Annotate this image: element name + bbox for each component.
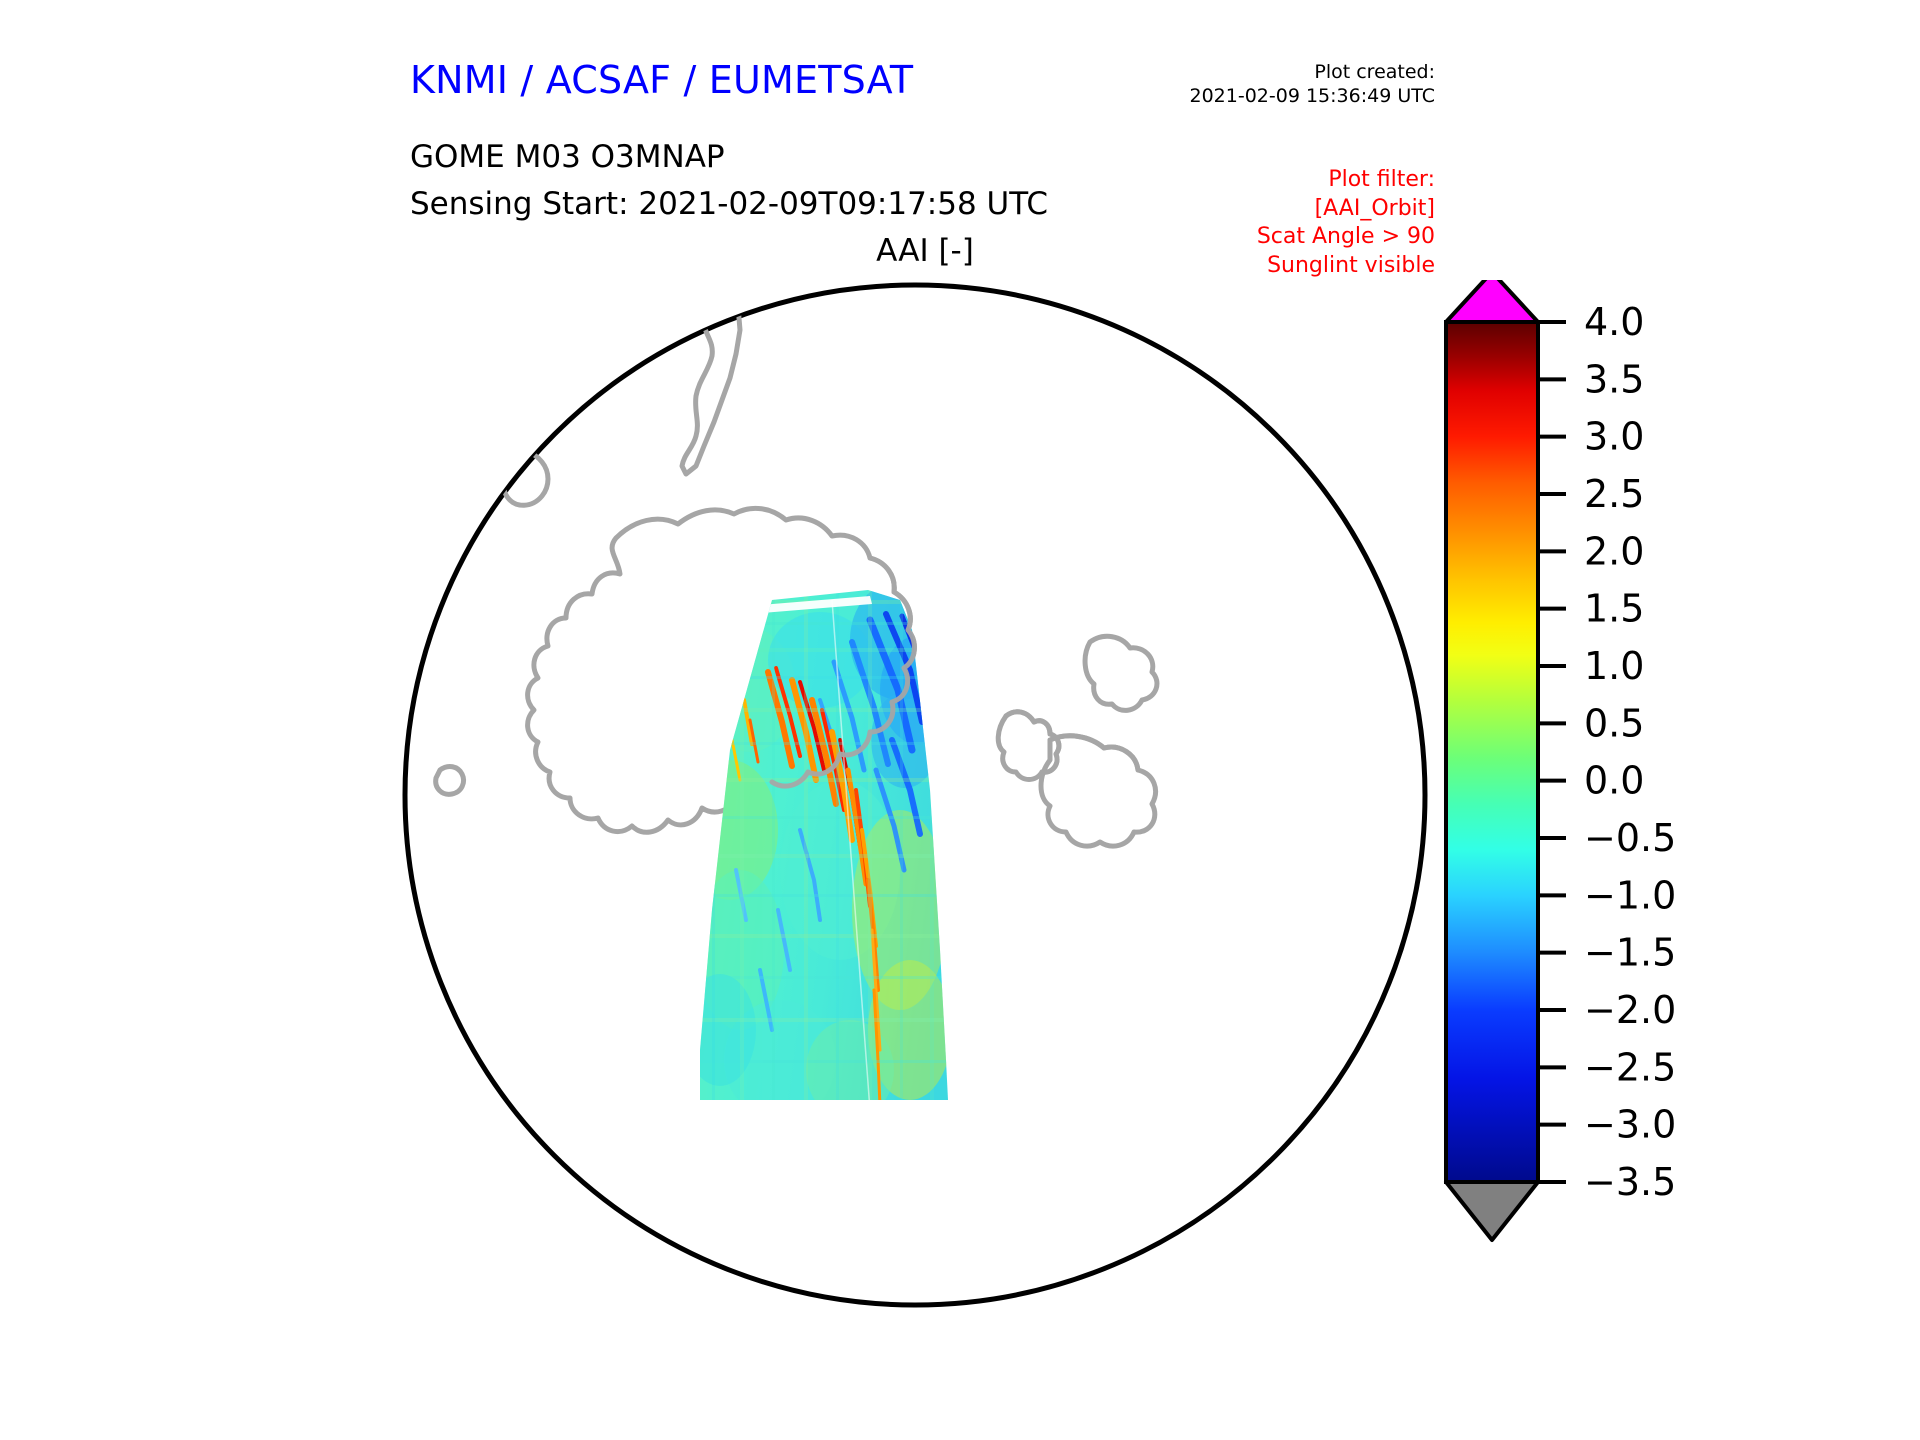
sensing-start-label: Sensing Start: 2021-02-09T09:17:58 UTC (410, 186, 1048, 222)
colorbar-tick-label: −1.0 (1584, 873, 1676, 917)
colorbar-tick-group: 4.03.53.02.52.01.51.00.50.0−0.5−1.0−1.5−… (1538, 300, 1676, 1204)
colorbar-tick-label: 0.0 (1584, 759, 1644, 803)
colorbar: 4.03.53.02.52.01.51.00.50.0−0.5−1.0−1.5−… (1434, 280, 1854, 1340)
plot-filter-label: Plot filter: (1257, 166, 1435, 195)
colorbar-tick-label: 1.5 (1584, 587, 1644, 631)
colorbar-over-range-arrow (1446, 280, 1538, 322)
colorbar-tick-label: 3.0 (1584, 415, 1644, 459)
colorbar-tick-label: 4.0 (1584, 300, 1644, 344)
plot-created-label: Plot created: (1190, 60, 1436, 84)
colorbar-tick-label: 1.0 (1584, 644, 1644, 688)
colorbar-tick-label: −0.5 (1584, 816, 1676, 860)
plot-created-block: Plot created: 2021-02-09 15:36:49 UTC (1190, 60, 1436, 109)
colorbar-gradient (1446, 322, 1538, 1182)
colorbar-tick-label: −2.0 (1584, 988, 1676, 1032)
colorbar-tick-label: 3.5 (1584, 357, 1644, 401)
plot-filter-block: Plot filter: [AAI_Orbit] Scat Angle > 90… (1257, 166, 1435, 280)
instrument-label: GOME M03 O3MNAP (410, 139, 725, 175)
colorbar-tick-label: 0.5 (1584, 701, 1644, 745)
plot-created-value: 2021-02-09 15:36:49 UTC (1190, 84, 1436, 108)
colorbar-tick-label: −2.5 (1584, 1045, 1676, 1089)
colorbar-tick-label: 2.0 (1584, 529, 1644, 573)
colorbar-tick-label: −3.0 (1584, 1103, 1676, 1147)
map-canvas (400, 270, 1430, 1320)
plot-filter-product: [AAI_Orbit] (1257, 195, 1435, 224)
page-title: AAI [-] (0, 233, 1850, 269)
colorbar-tick-label: −3.5 (1584, 1160, 1676, 1204)
organisation-title: KNMI / ACSAF / EUMETSAT (410, 58, 913, 102)
colorbar-tick-label: −1.5 (1584, 931, 1676, 975)
coastline-island-b (462, 416, 500, 438)
plot-page: KNMI / ACSAF / EUMETSAT GOME M03 O3MNAP … (0, 0, 1920, 1440)
plot-filter-scat-angle: Scat Angle > 90 (1257, 223, 1435, 252)
colorbar-under-range-arrow (1446, 1182, 1538, 1240)
colorbar-tick-label: 2.5 (1584, 472, 1644, 516)
